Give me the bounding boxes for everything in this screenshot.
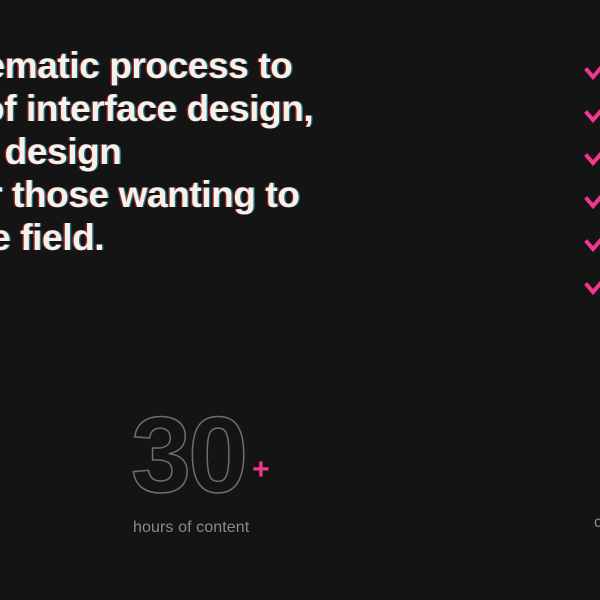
headline-line-2: skills of interface design, (0, 87, 582, 130)
headline-line-3: have a design (0, 130, 582, 173)
stat-plus-suffix: + (252, 460, 270, 480)
stat-number: 30 (131, 405, 245, 505)
check-icon (586, 185, 600, 228)
check-icon (586, 142, 600, 185)
headline-line-1: e systematic process to (0, 44, 582, 87)
stat-hours-of-content: 30 + hours of content (131, 405, 270, 538)
headline-line-4: ject for those wanting to (0, 173, 582, 216)
stat-label: hours of content (133, 518, 270, 538)
headline: e systematic process to skills of interf… (0, 44, 582, 259)
stat-figure: 30 + (131, 405, 270, 505)
stats-row: 30 + hours of content c (0, 405, 600, 565)
promo-section: e systematic process to skills of interf… (0, 0, 600, 600)
stat-secondary-clipped: c (592, 405, 600, 533)
stat-label: c (594, 513, 600, 533)
check-icon (586, 99, 600, 142)
check-icon (586, 228, 600, 271)
headline-line-5: n in the field. (0, 216, 582, 259)
check-icon (586, 56, 600, 99)
check-icon (586, 271, 600, 314)
checklist-rail (586, 56, 600, 314)
